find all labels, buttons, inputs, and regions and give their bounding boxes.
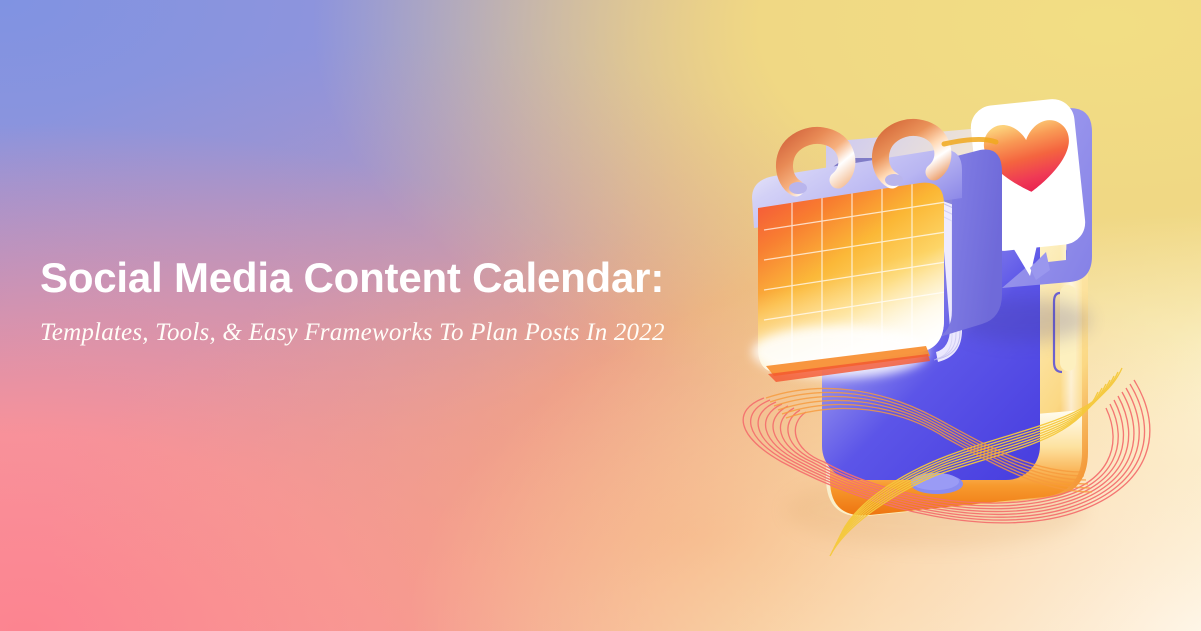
page-title: Social Media Content Calendar: bbox=[40, 253, 740, 303]
ring-hole-left bbox=[789, 182, 807, 194]
ring-hole-right bbox=[885, 174, 903, 186]
hero-copy: Social Media Content Calendar: Templates… bbox=[40, 253, 740, 347]
hero-banner: Social Media Content Calendar: Templates… bbox=[0, 0, 1201, 631]
illustration bbox=[730, 80, 1201, 580]
page-subtitle: Templates, Tools, & Easy Frameworks To P… bbox=[40, 319, 740, 347]
